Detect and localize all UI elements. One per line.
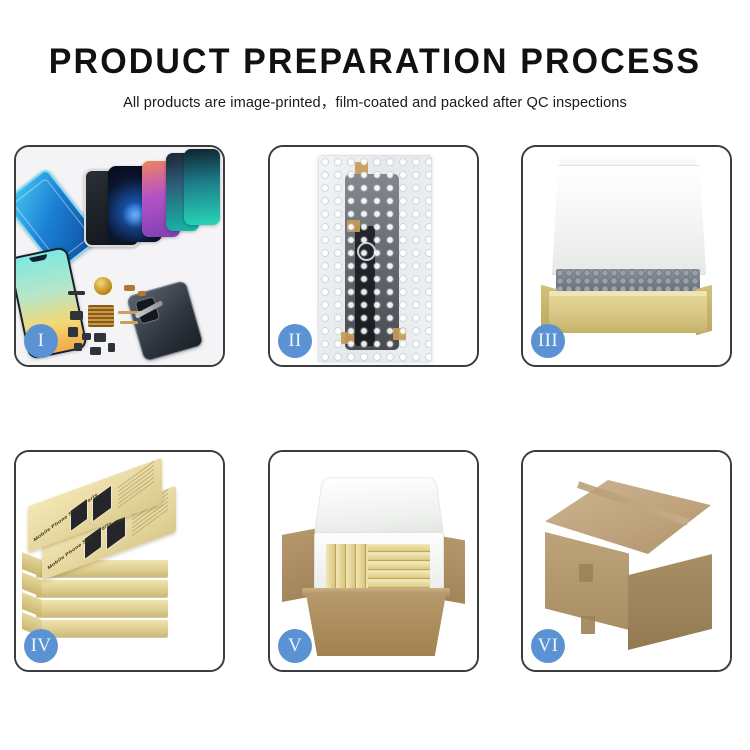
styrofoam-lid	[313, 477, 445, 539]
step-panel-6[interactable]: VI	[521, 450, 732, 672]
page-subtitle: All products are image-printed，film-coat…	[0, 91, 750, 112]
page-title: PRODUCT PREPARATION PROCESS	[11, 44, 739, 79]
bubble-texture-overlay	[319, 156, 431, 361]
step-badge-6: VI	[531, 629, 565, 663]
carton-right-face	[628, 554, 712, 650]
step-panel-2[interactable]: II	[268, 145, 479, 367]
stacked-box-6	[36, 620, 168, 637]
process-steps-grid: I II	[0, 145, 750, 672]
part-gold-chip-a	[124, 285, 135, 291]
box-yellow-base	[549, 293, 707, 333]
stacked-box-5	[36, 600, 168, 617]
box-white-foam-lid	[552, 165, 706, 275]
step-badge-5: V	[278, 629, 312, 663]
box-1-screen-image-b	[92, 484, 112, 523]
tweezers-tool	[135, 300, 164, 318]
spare-parts-cluster	[68, 277, 164, 363]
inner-box-horizontal-5	[368, 580, 430, 588]
inner-boxes-group	[326, 544, 430, 588]
part-connector-a	[68, 291, 85, 295]
inner-box-horizontal-4	[368, 571, 430, 579]
inner-box-horizontal-3	[368, 562, 430, 570]
step-badge-2: II	[278, 324, 312, 358]
box-base-rim	[549, 291, 707, 296]
part-bracket-b	[68, 327, 78, 337]
inner-box-vertical-2	[336, 544, 346, 588]
part-flex-cable-b	[120, 321, 138, 324]
part-screw-plate	[74, 343, 82, 351]
part-bracket-c	[82, 333, 91, 340]
step-badge-4: IV	[24, 629, 58, 663]
stacked-box-4	[36, 580, 168, 597]
step-panel-4[interactable]: Mobile Phone Spare Parts Mobile Phone Sp…	[14, 450, 225, 672]
step-panel-1[interactable]: I	[14, 145, 225, 367]
step-panel-3[interactable]: III	[521, 145, 732, 367]
speaker-coil-part	[94, 277, 112, 295]
inner-box-horizontal-1	[368, 544, 430, 552]
step-badge-1: I	[24, 324, 58, 358]
box-1-spec-lines	[118, 460, 154, 508]
bubble-wrap-bag	[318, 155, 432, 362]
part-gold-chip-b	[138, 291, 146, 296]
part-camera-module	[94, 333, 106, 342]
step-panel-5[interactable]: V	[268, 450, 479, 672]
steps-row-top: I II	[0, 145, 750, 367]
inner-box-vertical-4	[356, 544, 366, 588]
carton-tape-upper	[579, 564, 593, 582]
inner-box-horizontal-2	[368, 553, 430, 561]
step-badge-3: III	[531, 324, 565, 358]
inner-box-vertical-3	[346, 544, 356, 588]
carton-front-panel	[306, 594, 446, 656]
steps-row-bottom: Mobile Phone Spare Parts Mobile Phone Sp…	[0, 450, 750, 672]
phone-green-gradient	[184, 149, 220, 225]
circuit-board-part	[88, 305, 114, 327]
carton-tape-lower	[581, 616, 595, 634]
part-button-flex	[108, 343, 115, 352]
product-preparation-process-page: PRODUCT PREPARATION PROCESS All products…	[0, 0, 750, 750]
inner-box-vertical-1	[326, 544, 336, 588]
part-vibrator	[90, 347, 101, 355]
page-header: PRODUCT PREPARATION PROCESS All products…	[0, 0, 750, 112]
part-bracket-a	[70, 311, 83, 320]
